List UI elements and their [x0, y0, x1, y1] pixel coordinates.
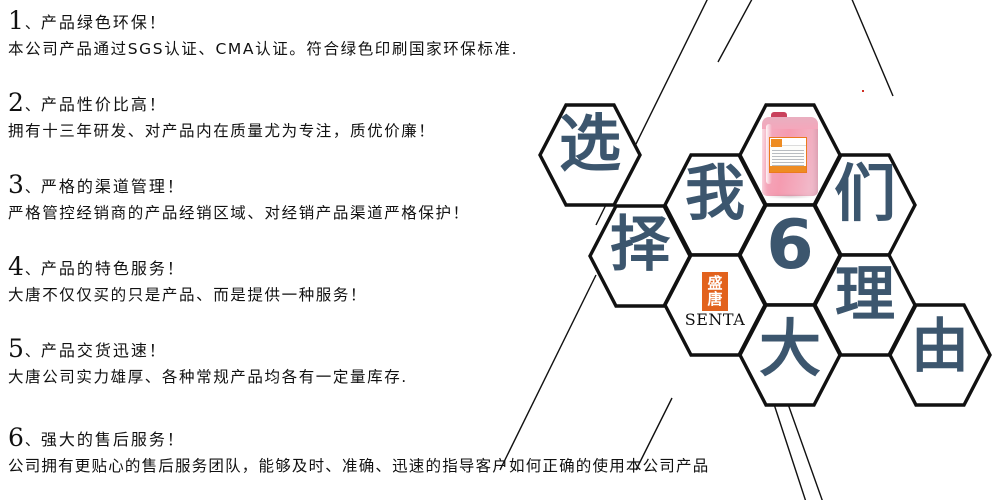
reason-item-5: 5 、 产品交货迅速！ 大唐公司实力雄厚、各种常规产品均各有一定量库存.: [8, 336, 648, 387]
reason-body: 严格管控经销商的产品经销区域、对经销产品渠道严格保护！: [8, 201, 648, 223]
reason-number: 2: [8, 90, 24, 115]
reason-heading: 1 、 产品绿色环保！: [8, 8, 648, 34]
reason-separator: 、: [25, 429, 40, 450]
bottle-shadow: [765, 194, 815, 199]
hexagon-label-men: 们: [815, 163, 915, 225]
logo-wordmark: SENTA: [665, 312, 765, 328]
product-jerrycan-image: [759, 110, 821, 198]
reason-body: 大唐公司实力雄厚、各种常规产品均各有一定量库存.: [8, 365, 648, 387]
reason-number: 3: [8, 172, 24, 197]
reason-item-1: 1 、 产品绿色环保！ 本公司产品通过SGS认证、CMA认证。符合绿色印刷国家环…: [8, 8, 648, 59]
reason-item-2: 2 、 产品性价比高！ 拥有十三年研发、对产品内在质量尤为专注，质优价廉！: [8, 90, 648, 141]
reason-title: 严格的渠道管理！: [41, 173, 185, 197]
reason-heading: 5 、 产品交货迅速！: [8, 336, 648, 362]
reason-number: 1: [8, 8, 24, 33]
logo-mark: 盛 唐: [702, 272, 728, 311]
reason-separator: 、: [25, 258, 40, 279]
reason-separator: 、: [25, 340, 40, 361]
reason-heading: 3 、 严格的渠道管理！: [8, 172, 648, 198]
reason-body: 拥有十三年研发、对产品内在质量尤为专注，质优价廉！: [8, 119, 648, 141]
reason-item-6: 6 、 强大的售后服务！ 公司拥有更贴心的售后服务团队，能够及时、准确、迅速的指…: [8, 425, 998, 476]
bottle-label: [769, 137, 807, 173]
hexagon-label-you: 由: [890, 317, 990, 375]
reason-title: 强大的售后服务！: [41, 426, 185, 450]
reason-body: 本公司产品通过SGS认证、CMA认证。符合绿色印刷国家环保标准.: [8, 37, 648, 59]
red-dot-mark: [862, 90, 864, 92]
reason-separator: 、: [25, 94, 40, 115]
reasons-list: 1 、 产品绿色环保！ 本公司产品通过SGS认证、CMA认证。符合绿色印刷国家环…: [8, 0, 648, 500]
reason-heading: 4 、 产品的特色服务！: [8, 254, 648, 280]
reason-title: 产品的特色服务！: [41, 255, 185, 279]
hexagon-label-li: 理: [815, 265, 915, 325]
reason-number: 4: [8, 254, 24, 279]
reason-heading: 6 、 强大的售后服务！: [8, 425, 998, 451]
reason-title: 产品性价比高！: [41, 91, 167, 115]
reason-number: 5: [8, 336, 24, 361]
reason-body: 公司拥有更贴心的售后服务团队，能够及时、准确、迅速的指导客户如何正确的使用本公司…: [8, 454, 998, 476]
reason-item-4: 4 、 产品的特色服务！ 大唐不仅仅买的只是产品、而是提供一种服务！: [8, 254, 648, 305]
reason-separator: 、: [25, 176, 40, 197]
reason-item-3: 3 、 严格的渠道管理！ 严格管控经销商的产品经销区域、对经销产品渠道严格保护！: [8, 172, 648, 223]
reason-body: 大唐不仅仅买的只是产品、而是提供一种服务！: [8, 283, 648, 305]
reason-number: 6: [8, 425, 24, 450]
logo-mark-char-2: 唐: [707, 292, 722, 307]
poster-canvas: 选 择 我 6 大 们 理 由 盛 唐 SENTA 1 、: [0, 0, 1000, 500]
reason-title: 产品交货迅速！: [41, 337, 167, 361]
brand-logo: 盛 唐 SENTA: [665, 272, 765, 328]
reason-heading: 2 、 产品性价比高！: [8, 90, 648, 116]
reason-title: 产品绿色环保！: [41, 9, 167, 33]
reason-separator: 、: [25, 12, 40, 33]
